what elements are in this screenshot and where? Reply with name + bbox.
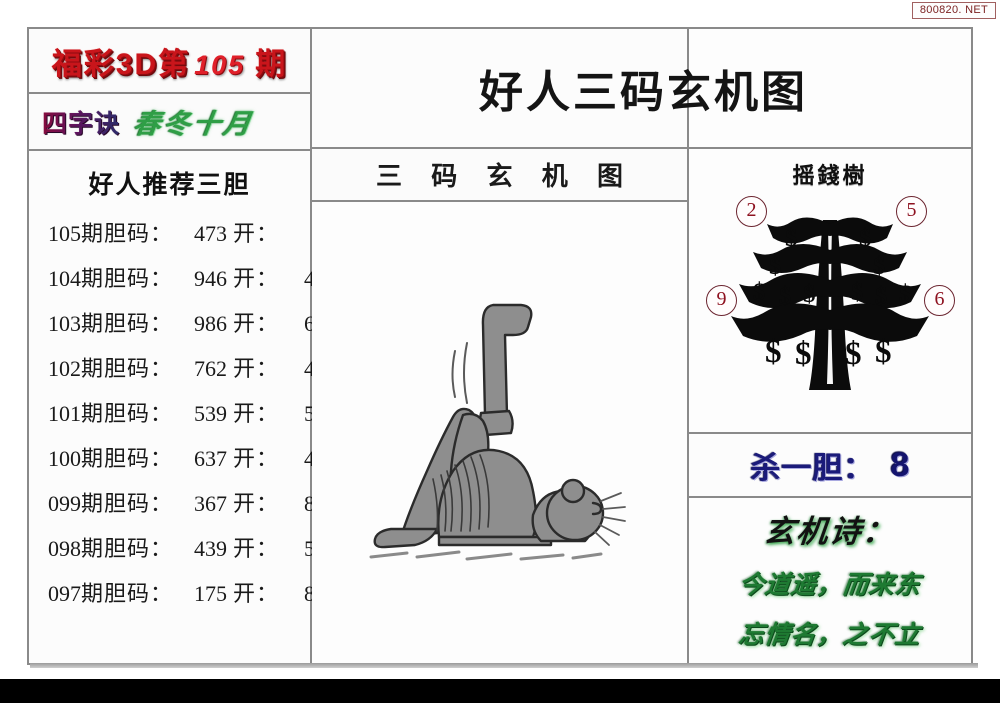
row-issue: 100 <box>39 446 81 472</box>
illustration-cell <box>312 202 687 663</box>
svg-text:$: $ <box>753 279 766 306</box>
row-issue: 097 <box>39 581 81 607</box>
four-char-cell: 四字诀 春冬十月 <box>29 94 310 151</box>
svg-text:$: $ <box>845 336 862 372</box>
poem-panel: 玄机诗： 今道遥，而来东 忘情名，之不立 <box>689 498 971 663</box>
bottom-black-bar <box>0 679 1000 703</box>
money-tree-panel: 摇錢樹 <box>689 149 971 434</box>
reclining-figure-illustration <box>335 265 665 595</box>
row-period-label: 期胆码： <box>81 576 173 608</box>
poem-heading: 玄机诗： <box>762 506 899 551</box>
row-period-label: 期胆码： <box>81 531 173 563</box>
issue-header-prefix: 福彩3D第 <box>52 48 190 81</box>
issue-header-cell: 福彩3D第105期 <box>29 29 310 94</box>
kill-one-value: 8 <box>891 446 910 485</box>
row-issue: 101 <box>39 401 81 427</box>
row-open-label: 开： <box>233 261 279 293</box>
money-tree-area: $ $ $ $ $ $ $ $ $ $ $ $ $ <box>689 190 971 432</box>
money-tree-title: 摇錢樹 <box>792 158 867 190</box>
svg-text:$: $ <box>875 334 892 370</box>
recommendation-list: 105 期胆码： 473 开： 104 期胆码： 946 开： 482 103 … <box>29 207 310 663</box>
row-period-label: 期胆码： <box>81 351 173 383</box>
table-row: 099 期胆码： 367 开： 877 <box>39 479 300 524</box>
svg-text:$: $ <box>795 336 812 372</box>
table-row: 097 期胆码： 175 开： 818 <box>39 569 300 614</box>
svg-text:$: $ <box>779 283 792 310</box>
table-row: 098 期胆码： 439 开： 513 <box>39 524 300 569</box>
circled-number: 5 <box>896 196 927 227</box>
right-column: 摇錢樹 <box>689 29 971 663</box>
row-code: 175 <box>175 581 227 607</box>
row-open-label: 开： <box>233 576 279 608</box>
center-banner-spacer <box>312 29 687 149</box>
row-open-label: 开： <box>233 441 279 473</box>
table-row: 104 期胆码： 946 开： 482 <box>39 254 300 299</box>
site-watermark: 800820. NET <box>912 2 996 19</box>
row-code: 539 <box>175 401 227 427</box>
row-open-label: 开： <box>233 396 279 428</box>
row-open-label: 开： <box>233 486 279 518</box>
circled-number: 2 <box>736 196 767 227</box>
circled-number: 9 <box>706 285 737 316</box>
poster-frame: 福彩3D第105期 四字诀 春冬十月 好人推荐三胆 105 期胆码： 473 开… <box>27 27 973 665</box>
svg-text:$: $ <box>785 225 798 252</box>
row-code: 946 <box>175 266 227 292</box>
row-period-label: 期胆码： <box>81 216 173 248</box>
left-column: 福彩3D第105期 四字诀 春冬十月 好人推荐三胆 105 期胆码： 473 开… <box>29 29 312 663</box>
row-period-label: 期胆码： <box>81 486 173 518</box>
circled-number: 6 <box>924 285 955 316</box>
row-period-label: 期胆码： <box>81 261 173 293</box>
row-issue: 102 <box>39 356 81 382</box>
svg-text:$: $ <box>873 253 886 280</box>
recommendation-title: 好人推荐三胆 <box>29 151 310 207</box>
kill-one-label: 杀一胆： <box>751 443 875 487</box>
svg-text:$: $ <box>765 334 782 370</box>
table-row: 101 期胆码： 539 开： 584 <box>39 389 300 434</box>
issue-header: 福彩3D第105期 <box>52 39 287 83</box>
table-row: 102 期胆码： 762 开： 420 <box>39 344 300 389</box>
row-open-label: 开： <box>233 306 279 338</box>
row-code: 439 <box>175 536 227 562</box>
svg-text:$: $ <box>769 253 782 280</box>
row-code: 473 <box>175 221 227 247</box>
row-period-label: 期胆码： <box>81 306 173 338</box>
row-issue: 099 <box>39 491 81 517</box>
svg-text:$: $ <box>859 225 872 252</box>
row-code: 367 <box>175 491 227 517</box>
table-row: 100 期胆码： 637 开： 414 <box>39 434 300 479</box>
center-subtitle-cell: 三 码 玄 机 图 <box>312 149 687 202</box>
svg-text:$: $ <box>803 281 816 308</box>
row-open-label: 开： <box>233 351 279 383</box>
table-row: 105 期胆码： 473 开： <box>39 209 300 254</box>
row-issue: 103 <box>39 311 81 337</box>
center-subtitle: 三 码 玄 机 图 <box>365 156 634 193</box>
row-issue: 098 <box>39 536 81 562</box>
row-open-label: 开： <box>233 216 279 248</box>
four-char-label: 四字诀 <box>42 104 120 140</box>
center-column: 三 码 玄 机 图 <box>312 29 689 663</box>
issue-header-number: 105 <box>194 50 245 80</box>
right-banner-spacer <box>689 29 971 149</box>
kill-one-panel: 杀一胆： 8 <box>689 434 971 498</box>
four-char-value: 春冬十月 <box>131 102 256 141</box>
row-code: 762 <box>175 356 227 382</box>
row-issue: 105 <box>39 221 81 247</box>
row-open-label: 开： <box>233 531 279 563</box>
row-issue: 104 <box>39 266 81 292</box>
svg-text:$: $ <box>899 281 912 308</box>
poem-line-2: 忘情名，之不立 <box>737 615 923 651</box>
svg-text:$: $ <box>851 279 864 306</box>
row-code: 637 <box>175 446 227 472</box>
issue-header-suffix: 期 <box>255 48 287 81</box>
table-row: 103 期胆码： 986 开： 661 <box>39 299 300 344</box>
row-code: 986 <box>175 311 227 337</box>
svg-text:$: $ <box>875 283 888 310</box>
row-period-label: 期胆码： <box>81 441 173 473</box>
row-period-label: 期胆码： <box>81 396 173 428</box>
poem-line-1: 今道遥，而来东 <box>737 565 923 601</box>
